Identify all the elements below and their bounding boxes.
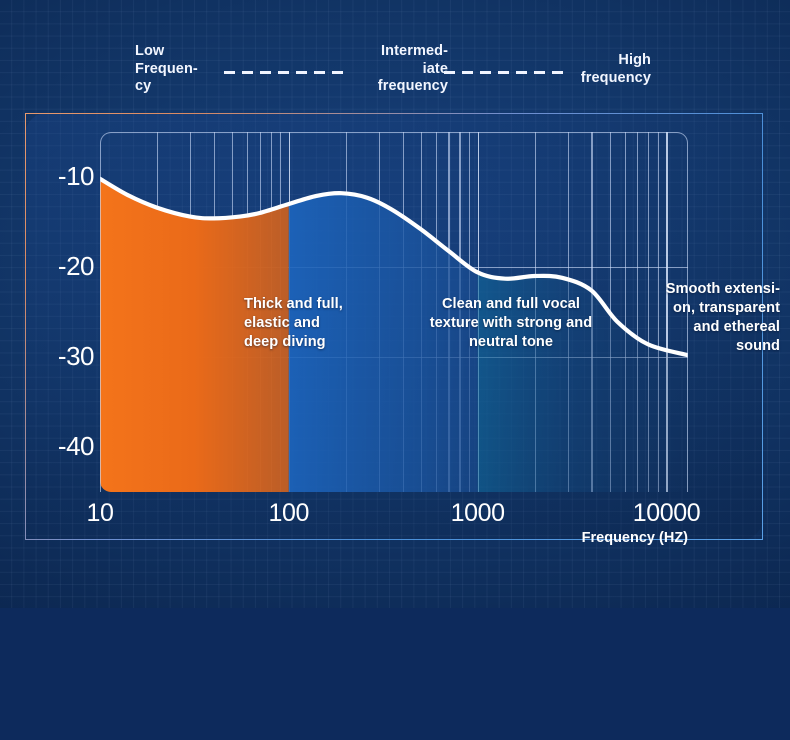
y-axis-tick-label: -40 bbox=[24, 433, 94, 459]
legend-divider-1-dashed-line-icon bbox=[224, 71, 343, 74]
legend-label-intermediate-frequency: Intermed- iate frequency bbox=[352, 43, 448, 96]
legend-label-low-frequency: Low Frequen- cy bbox=[135, 43, 198, 96]
annotation-low-frequency: Thick and full, elastic and deep diving bbox=[244, 295, 404, 352]
y-axis-tick-label: -20 bbox=[24, 253, 94, 279]
frequency-response-plot: Thick and full, elastic and deep diving … bbox=[100, 132, 688, 492]
legend-label-high-frequency: High frequency bbox=[566, 52, 651, 87]
frequency-band-legend: Low Frequen- cy Intermed- iate frequency… bbox=[0, 40, 790, 102]
plot-curve-layer bbox=[100, 132, 790, 740]
annotation-mid-frequency: Clean and full vocal texture with strong… bbox=[418, 295, 604, 352]
y-axis-tick-label: -30 bbox=[24, 343, 94, 369]
legend-divider-2-dashed-line-icon bbox=[444, 71, 563, 74]
x-axis-title: Frequency (HZ) bbox=[540, 530, 688, 546]
annotation-high-frequency: Smooth extensi- on, transparent and ethe… bbox=[634, 280, 780, 356]
y-axis-tick-label: -10 bbox=[24, 163, 94, 189]
